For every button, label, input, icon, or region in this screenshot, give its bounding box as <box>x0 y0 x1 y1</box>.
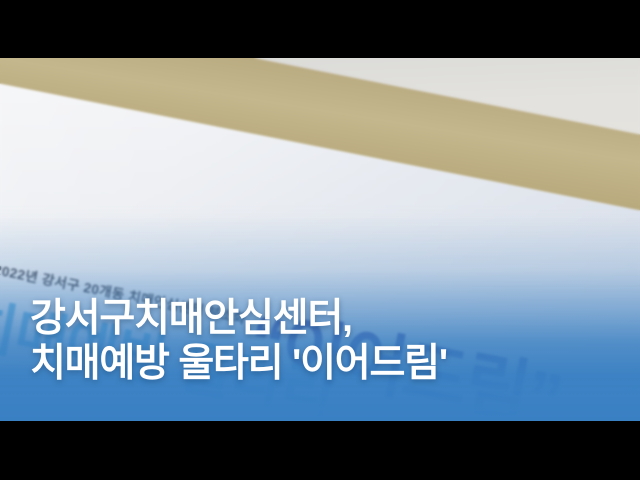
video-frame: 2022년 강서구 20개동 치매안심센터 분소화 치매예방 울타리 “이어드림… <box>0 0 640 480</box>
letterbox-bar-bottom <box>0 421 640 480</box>
caption-line-1: 강서구치매안심센터, <box>30 296 447 341</box>
letterbox-bar-top <box>0 0 640 58</box>
caption-line-2: 치매예방 울타리 '이어드림' <box>30 341 447 386</box>
caption-headline: 강서구치매안심센터, 치매예방 울타리 '이어드림' <box>30 296 447 386</box>
